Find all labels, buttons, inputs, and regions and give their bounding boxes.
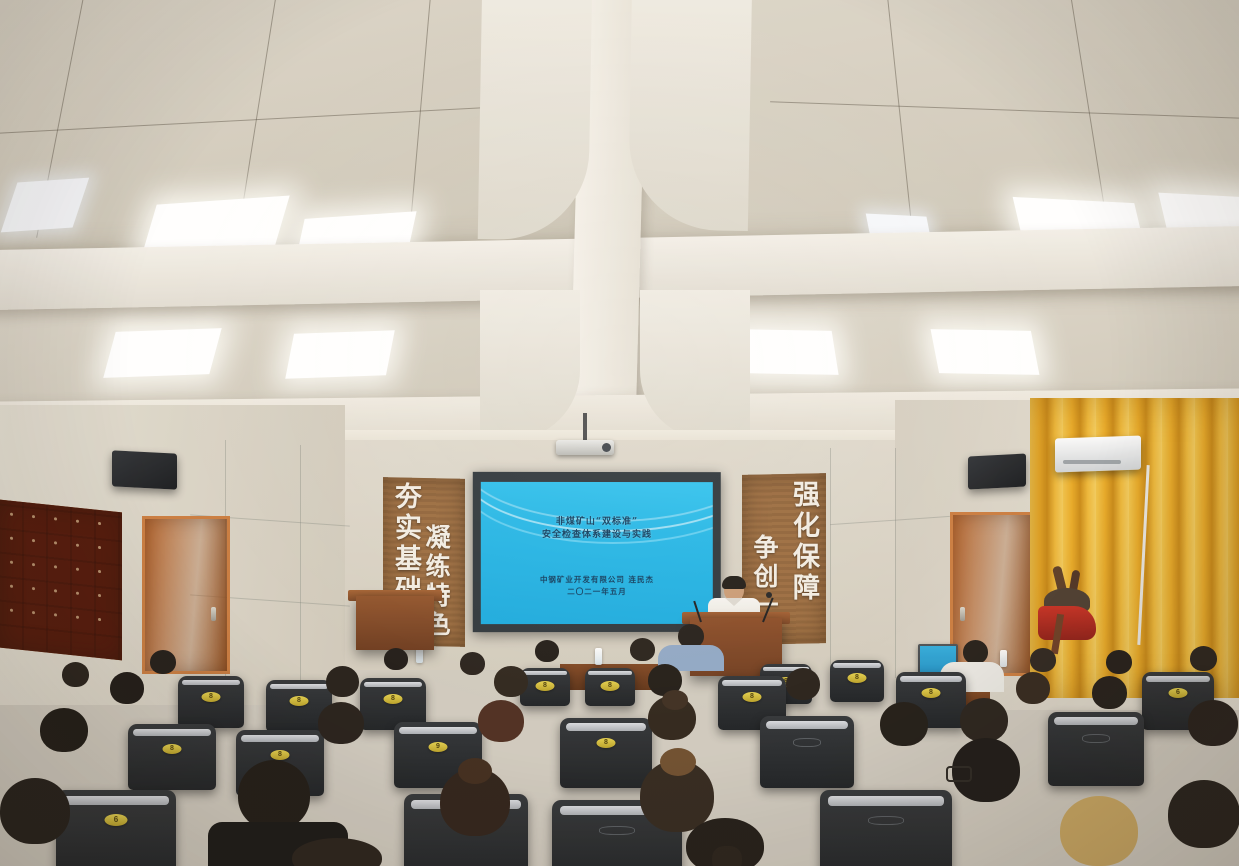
seat[interactable]: 8	[128, 724, 216, 790]
audience-head	[630, 638, 655, 661]
audience-head	[535, 640, 559, 662]
seat-stripe	[566, 723, 647, 731]
door-handle-icon	[211, 607, 216, 621]
seat[interactable]: 6	[56, 790, 176, 866]
projection-screen: 非煤矿山“双标准” 安全检查体系建设与实践 中钢矿业开发有限公司 连民杰 二〇二…	[473, 472, 721, 632]
seat-stripe	[900, 676, 962, 682]
side-lectern	[356, 596, 434, 650]
audience-head	[326, 666, 359, 697]
audience-head	[1188, 700, 1238, 746]
air-conditioner-unit	[1055, 435, 1141, 472]
audience-hair-bun	[660, 748, 696, 776]
seat-number-plate: 8	[743, 692, 762, 702]
seat-number-plate: 8	[202, 692, 221, 702]
eyeglasses-icon	[946, 766, 972, 782]
door-left[interactable]	[142, 516, 230, 674]
acoustic-wall-panel	[0, 500, 122, 661]
audience-head	[238, 760, 310, 830]
seat[interactable]	[820, 790, 952, 866]
water-bottle	[1000, 650, 1007, 667]
seat-handle-slot	[599, 826, 635, 835]
slide-byline-date: 二〇二一年五月	[481, 586, 713, 598]
audience-head	[150, 650, 176, 674]
ceiling-light-panel	[285, 330, 395, 378]
audience-head	[1016, 672, 1050, 704]
seat-stripe	[833, 663, 881, 668]
audience-head	[786, 668, 820, 700]
seat[interactable]: 8	[178, 676, 244, 728]
wall-tile-seam	[300, 445, 301, 680]
air-conditioner-vent	[1063, 460, 1121, 464]
seat-number-plate: 8	[848, 673, 867, 683]
audience-head	[110, 672, 144, 704]
seat[interactable]	[1048, 712, 1144, 786]
seat[interactable]: 8	[830, 660, 884, 702]
audience-head	[0, 778, 70, 844]
seat-stripe	[182, 680, 240, 686]
audience-head	[62, 662, 89, 687]
audience-head	[384, 648, 408, 670]
seat-number-plate: 8	[271, 750, 290, 760]
slide-byline-org: 中钢矿业开发有限公司 连民杰	[481, 574, 713, 586]
slide-title-line-2: 安全检查体系建设与实践	[481, 529, 713, 542]
ceiling-light-panel	[931, 329, 1040, 375]
audience-head	[40, 708, 88, 752]
banner-right-text-1: 强化保障	[790, 480, 817, 604]
seat-stripe	[133, 729, 210, 736]
audience-head-blonde	[1060, 796, 1138, 866]
wall-speaker-left	[112, 450, 177, 489]
seat-stripe	[270, 684, 328, 690]
seat-stripe	[828, 796, 944, 806]
audience-head	[1190, 646, 1217, 671]
seat-number-plate: 8	[536, 681, 555, 691]
presentation-slide: 非煤矿山“双标准” 安全检查体系建设与实践 中钢矿业开发有限公司 连民杰 二〇二…	[481, 482, 713, 624]
seat-number-plate: 8	[922, 688, 941, 698]
audience-head	[1106, 650, 1132, 674]
slide-title-line-1: 非煤矿山“双标准”	[481, 516, 713, 529]
audience-hair-bun	[662, 690, 688, 710]
audience-ponytail	[712, 846, 742, 866]
seat-stripe	[523, 671, 567, 675]
audience-head	[1168, 780, 1239, 848]
seat-number-plate: 9	[429, 742, 448, 752]
seat[interactable]: 8	[585, 668, 635, 706]
seat-number-plate: 6	[1169, 688, 1188, 698]
wall-tile-seam	[895, 448, 896, 678]
presenter-hair	[722, 576, 746, 589]
seat-number-plate: 8	[601, 681, 620, 691]
ceremonial-flag-stand	[1036, 566, 1098, 658]
seat[interactable]: 8	[560, 718, 652, 788]
seat-stripe	[766, 721, 849, 729]
ceiling-light-panel	[736, 329, 838, 375]
audience-head	[1092, 676, 1127, 709]
audience-hair-bun	[458, 758, 492, 784]
seat-number-plate: 6	[105, 814, 128, 826]
seat-stripe	[399, 727, 476, 734]
seat-stripe	[722, 680, 782, 686]
slide-title: 非煤矿山“双标准” 安全检查体系建设与实践	[481, 516, 713, 542]
ceiling-light-panel	[103, 328, 222, 378]
seat-handle-slot	[868, 816, 904, 825]
water-bottle	[595, 648, 602, 665]
seat-stripe	[588, 671, 632, 675]
projector-lens-icon	[602, 443, 611, 452]
wall-speaker-right	[968, 453, 1026, 489]
projector-mount-pole	[583, 413, 587, 443]
seat-number-plate: 8	[290, 696, 309, 706]
audience-head	[960, 698, 1008, 742]
door-handle-icon	[960, 607, 965, 621]
seat[interactable]	[760, 716, 854, 788]
seat[interactable]: 8	[520, 668, 570, 706]
audience-head	[880, 702, 928, 746]
seat-number-plate: 8	[163, 744, 182, 754]
audience-head	[1030, 648, 1056, 672]
seat-stripe	[1054, 717, 1138, 725]
seat-number-plate: 8	[597, 738, 616, 748]
slide-byline: 中钢矿业开发有限公司 连民杰 二〇二一年五月	[481, 574, 713, 598]
seat-handle-slot	[1082, 734, 1110, 743]
seat-stripe	[241, 735, 318, 742]
audience-head	[963, 640, 988, 664]
audience-head	[318, 702, 364, 744]
audience-head	[494, 666, 528, 697]
lecture-hall-photo: 夯实基础 凝练特色 强化保障 争创一 非煤矿山“双标准” 安全检查体系建设与实践…	[0, 0, 1239, 866]
seat-number-plate: 8	[384, 694, 403, 704]
banner-left-text-1: 夯实基础	[392, 482, 419, 606]
seat-stripe	[1146, 676, 1209, 682]
seat-handle-slot	[793, 738, 821, 747]
audience-head	[478, 700, 524, 742]
microphone-head-icon	[766, 592, 772, 598]
seat-stripe	[364, 682, 422, 688]
audience-head	[460, 652, 485, 675]
wall-tile-seam	[830, 448, 831, 678]
seat-stripe	[63, 796, 169, 805]
